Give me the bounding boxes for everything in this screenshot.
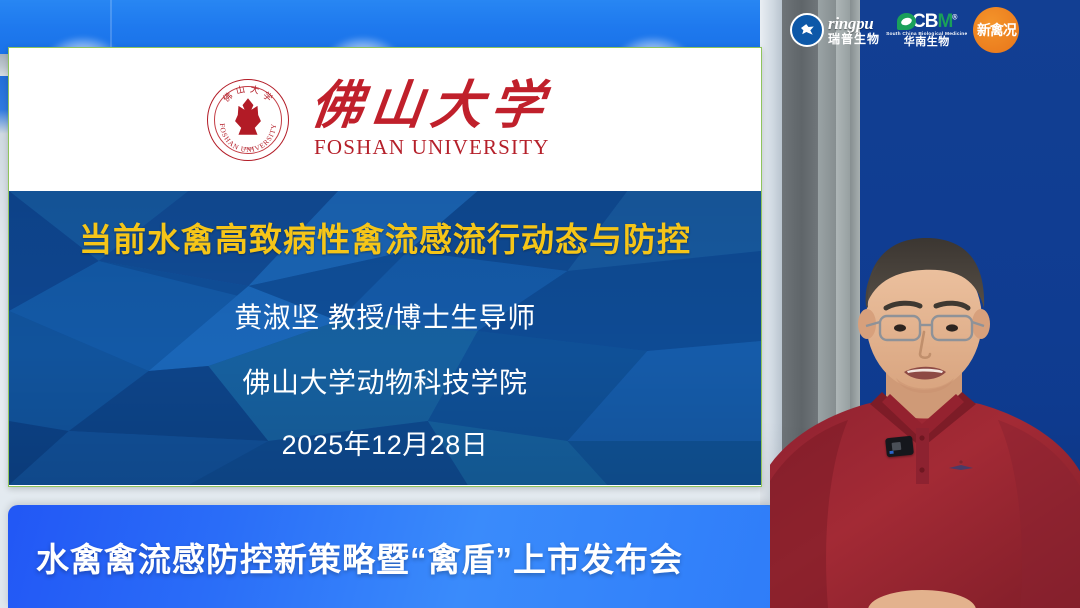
- sponsor-logo-bar: ringpu 瑞普生物 CBM® South China Biological …: [790, 6, 1080, 54]
- sponsor-logo-xinqinkuang: 新禽况: [973, 7, 1019, 53]
- university-logo: 佛 山 大 学 FOSHAN UNIVERSITY 1958 佛山大学 FOSH…: [207, 79, 551, 161]
- presenter-camera-feed: [770, 232, 1080, 608]
- slide-title: 当前水禽高致病性禽流感流行动态与防控: [79, 213, 691, 261]
- university-name-en: FOSHAN UNIVERSITY: [314, 137, 551, 158]
- university-name-cn: 佛山大学: [308, 81, 554, 133]
- ringpu-chinese-label: 瑞普生物: [828, 33, 880, 45]
- slide-header: 佛 山 大 学 FOSHAN UNIVERSITY 1958 佛山大学 FOSH…: [9, 48, 761, 191]
- emblem-year: 1958: [243, 146, 253, 151]
- event-banner: 水禽禽流感防控新策略暨“禽盾”上市发布会: [8, 505, 773, 608]
- sponsor-logo-cbm: CBM® South China Biological Medicine 华南生…: [888, 12, 965, 49]
- cbm-chinese-label: 华南生物: [904, 37, 950, 48]
- shirt-chest-emblem-icon: [948, 460, 974, 473]
- presenter-figure: [770, 232, 1080, 608]
- slide-date: 2025年12月28日: [282, 423, 489, 462]
- ringpu-seal-icon: [790, 13, 824, 47]
- slide-body: 当前水禽高致病性禽流感流行动态与防控 黄淑坚 教授/博士生导师 佛山大学动物科技…: [9, 191, 761, 485]
- xinqinkuang-chinese-label: 新禽况: [977, 23, 1016, 37]
- slide-affiliation: 佛山大学动物科技学院: [242, 361, 527, 401]
- cbm-english-label: CBM®: [912, 12, 956, 31]
- livestream-screen: ringpu 瑞普生物 CBM® South China Biological …: [0, 0, 1080, 608]
- flame-emblem-icon: 佛 山 大 学 FOSHAN UNIVERSITY 1958: [207, 79, 289, 161]
- slide-presenter: 黄淑坚 教授/博士生导师: [234, 296, 536, 336]
- cbm-tagline: South China Biological Medicine: [886, 32, 967, 37]
- event-banner-title: 水禽禽流感防控新策略暨“禽盾”上市发布会: [8, 533, 683, 581]
- lapel-microphone-icon: [885, 436, 914, 458]
- sponsor-logo-ringpu: ringpu 瑞普生物: [790, 13, 880, 47]
- ringpu-english-label: ringpu: [828, 15, 880, 32]
- registered-mark-icon: ®: [952, 14, 956, 21]
- cbm-leaf-icon: [897, 13, 916, 30]
- presentation-slide: 佛 山 大 学 FOSHAN UNIVERSITY 1958 佛山大学 FOSH…: [8, 47, 762, 487]
